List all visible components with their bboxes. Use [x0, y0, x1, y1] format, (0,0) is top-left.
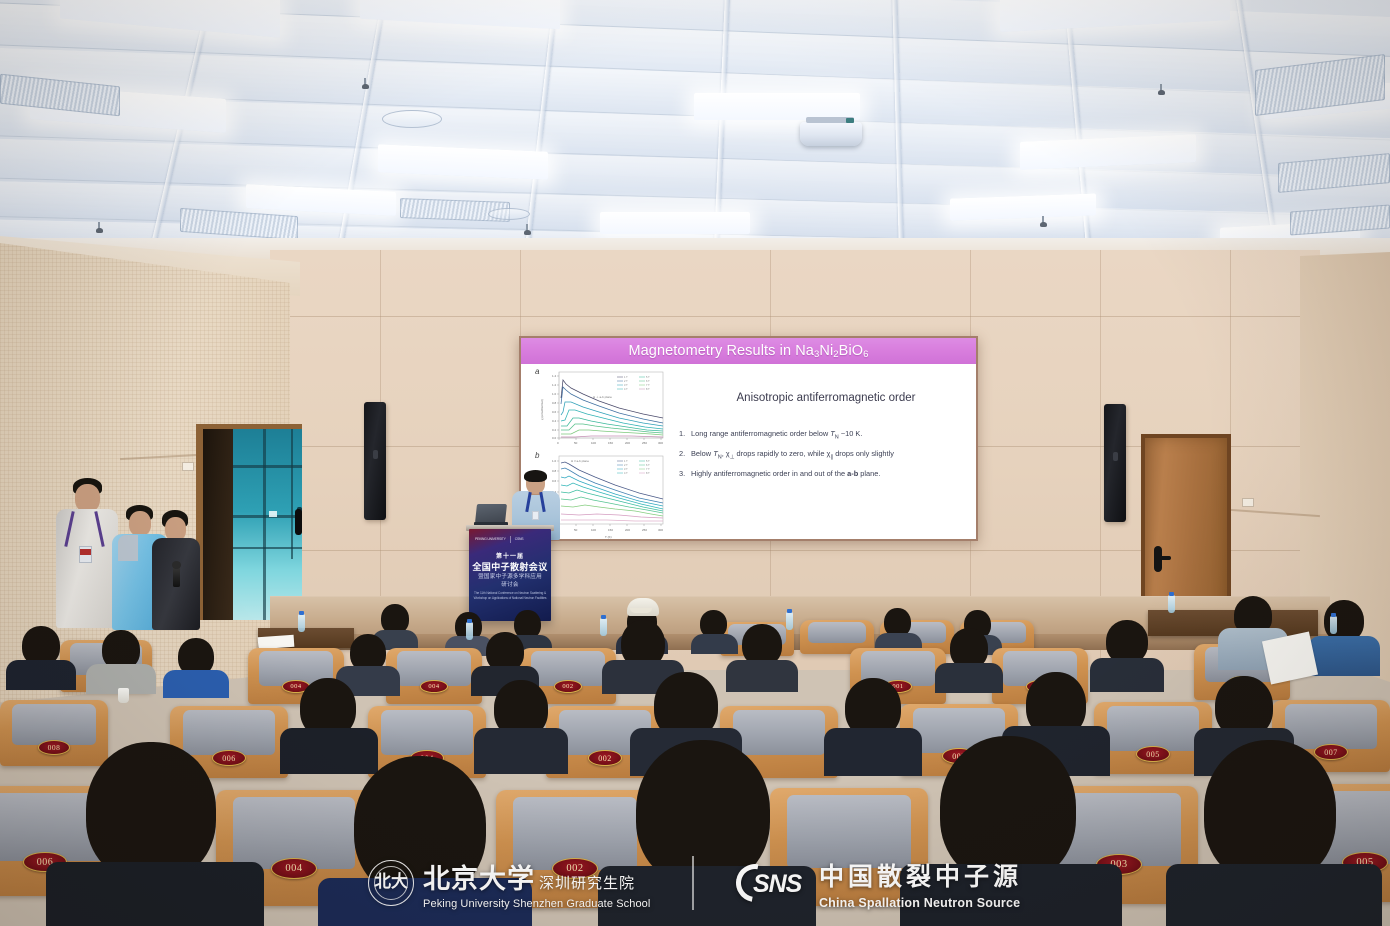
slide-body: a — [521, 364, 976, 539]
attendee-foreground — [338, 756, 510, 926]
seat-plaque: 002 — [552, 858, 598, 879]
seat-plaque: 004 — [420, 680, 448, 693]
svg-text:4 T: 4 T — [624, 471, 628, 475]
shoulders — [1166, 864, 1382, 926]
sprinkler-head — [362, 78, 369, 90]
attendee-foreground — [922, 736, 1098, 926]
water-bottle — [466, 622, 473, 640]
svg-text:2 T: 2 T — [624, 379, 628, 383]
panel-a-svg: 1.41.21.0 0.80.60.4 0.20.0 050100 150200… — [535, 368, 667, 452]
svg-text:200: 200 — [625, 441, 630, 445]
shoulders — [163, 670, 229, 698]
svg-text:5 T: 5 T — [646, 459, 650, 463]
seat-plaque: 002 — [588, 750, 622, 766]
attendee — [836, 678, 910, 776]
ceiling-light — [600, 212, 750, 234]
seat[interactable]: 004 — [386, 648, 482, 704]
podium-logos: PEKING UNIVERSITY CSNS — [475, 535, 545, 543]
svg-text:200: 200 — [625, 528, 630, 532]
wall-speaker-left — [364, 402, 386, 520]
svg-text:1.0: 1.0 — [552, 392, 557, 396]
head — [636, 740, 770, 886]
svg-text:0.6: 0.6 — [552, 410, 557, 414]
head — [940, 736, 1076, 884]
podium-line-1: 第十一届 — [469, 551, 551, 560]
shoulders — [1308, 636, 1380, 676]
podium-logo-pku: PEKING UNIVERSITY — [475, 537, 506, 541]
svg-text:4 T: 4 T — [624, 387, 628, 391]
podium-line-en: The 11th National Conference on Neutron … — [469, 591, 551, 600]
water-bottle — [298, 614, 305, 632]
presenter-badge — [532, 511, 539, 520]
shoulders — [900, 864, 1122, 926]
corridor-beyond-door — [229, 429, 302, 620]
door-leaf[interactable] — [203, 429, 233, 620]
shoulders — [598, 866, 816, 926]
attendee — [96, 630, 146, 692]
svg-text:0.0: 0.0 — [552, 436, 557, 440]
presenter-hair — [524, 470, 547, 482]
laptop-lid — [475, 504, 507, 523]
paper-cup — [118, 688, 129, 703]
seat-plaque: 004 — [271, 858, 317, 879]
podium-line-3: 暨国家中子源多学科应用 — [469, 572, 551, 580]
podium-banner: PEKING UNIVERSITY CSNS 第十一届 全国中子散射会议 暨国家… — [469, 529, 551, 621]
door-open-left[interactable] — [196, 424, 302, 620]
svg-text:300: 300 — [658, 441, 663, 445]
svg-text:7 T: 7 T — [646, 467, 650, 471]
ceiling-speaker-disc — [382, 110, 442, 128]
svg-text:250: 250 — [642, 441, 647, 445]
shoulders — [6, 660, 76, 690]
svg-text:3 T: 3 T — [624, 383, 628, 387]
svg-text:50: 50 — [574, 441, 578, 445]
ceiling-projector — [800, 122, 862, 146]
ceiling-speaker-disc — [488, 208, 530, 220]
seat-plaque: 008 — [38, 740, 70, 755]
panel-a-note: H ⊥ a-b plane — [593, 395, 612, 399]
bullet-number: 2. — [679, 450, 687, 461]
attendee — [880, 608, 916, 650]
svg-text:7 T: 7 T — [646, 383, 650, 387]
svg-text:0.4: 0.4 — [552, 419, 557, 423]
door-handle[interactable] — [1154, 546, 1162, 572]
shoulders — [935, 663, 1003, 693]
projection-screen-frame: Magnetometry Results in Na3Ni2BiO6 a — [519, 336, 978, 541]
svg-text:0.2: 0.2 — [552, 428, 557, 432]
svg-text:6 T: 6 T — [646, 463, 650, 467]
slide-heading: Anisotropic antiferromagnetic order — [681, 392, 971, 404]
water-bottle — [600, 618, 607, 636]
shoulders — [726, 660, 798, 692]
svg-text:50: 50 — [574, 528, 578, 532]
bullet-text: Below TN, χ⊥ drops rapidly to zero, whil… — [691, 450, 894, 461]
wall-outlet-plate — [1242, 498, 1254, 507]
svg-text:1.4: 1.4 — [552, 374, 557, 378]
projection-screen: Magnetometry Results in Na3Ni2BiO6 a — [521, 338, 976, 539]
svg-text:100: 100 — [591, 528, 596, 532]
head — [129, 511, 151, 536]
sprinkler-head — [1158, 84, 1165, 96]
svg-text:0.8: 0.8 — [552, 401, 557, 405]
slide-title-bar: Magnetometry Results in Na3Ni2BiO6 — [521, 338, 976, 364]
svg-text:250: 250 — [642, 528, 647, 532]
baseball-cap — [627, 598, 659, 616]
podium-logo-separator — [510, 536, 511, 543]
head — [1204, 740, 1336, 884]
panel-b-note: H // a-b plane — [571, 459, 589, 463]
conference-hall-photo: Magnetometry Results in Na3Ni2BiO6 a — [0, 0, 1390, 926]
water-bottle — [1168, 595, 1175, 613]
slide-bullet-list: 1. Long range antiferromagnetic order be… — [679, 430, 975, 487]
svg-text:8 T: 8 T — [646, 471, 650, 475]
svg-text:8 T: 8 T — [646, 387, 650, 391]
wall-outlet-plate — [182, 462, 194, 471]
svg-text:100: 100 — [591, 441, 596, 445]
ceiling-light — [694, 93, 860, 120]
svg-text:150: 150 — [608, 528, 613, 532]
head — [354, 756, 486, 898]
svg-text:6 T: 6 T — [646, 379, 650, 383]
shoulders — [824, 728, 922, 776]
shoulders — [46, 862, 264, 926]
podium-line-4: 研讨会 — [469, 580, 551, 588]
standing-attendee-1 — [56, 478, 118, 628]
panel-b-xlabel: T (K) — [605, 535, 612, 539]
water-bottle — [1330, 616, 1337, 634]
attendee-foreground — [620, 740, 792, 926]
svg-text:3 T: 3 T — [624, 467, 628, 471]
svg-text:150: 150 — [608, 441, 613, 445]
slide-chart-panel-a: a — [535, 368, 667, 452]
sprinkler-head — [524, 224, 531, 236]
svg-text:1.2: 1.2 — [552, 383, 557, 387]
svg-text:1 T: 1 T — [624, 459, 628, 463]
attendee-foreground — [1188, 740, 1358, 926]
svg-text:2 T: 2 T — [624, 463, 628, 467]
attendee — [1316, 600, 1372, 676]
handheld-microphone[interactable] — [173, 565, 180, 587]
head — [86, 742, 216, 882]
wall-speaker-right — [1104, 404, 1126, 522]
shoulders — [318, 878, 532, 926]
bullet-text: Highly antiferromagnetic order in and ou… — [691, 470, 880, 478]
slide-bullet-3: 3. Highly antiferromagnetic order in and… — [679, 470, 975, 478]
svg-text:1 T: 1 T — [624, 375, 628, 379]
sprinkler-head — [1040, 216, 1047, 228]
shoulders — [1090, 658, 1164, 692]
bullet-text: Long range antiferromagnetic order below… — [691, 430, 862, 441]
seat-plaque: 005 — [1136, 746, 1170, 762]
attendee — [736, 624, 788, 690]
body — [56, 509, 118, 628]
slide-bullet-2: 2. Below TN, χ⊥ drops rapidly to zero, w… — [679, 450, 975, 461]
bullet-number: 1. — [679, 430, 687, 441]
svg-text:300: 300 — [658, 528, 663, 532]
attendee — [944, 628, 994, 692]
attendee — [1100, 620, 1154, 690]
slide-bullet-1: 1. Long range antiferromagnetic order be… — [679, 430, 975, 441]
attendee-foreground — [70, 742, 240, 926]
slide-title: Magnetometry Results in Na3Ni2BiO6 — [628, 343, 868, 360]
svg-text:0: 0 — [557, 441, 559, 445]
seat-plaque: 002 — [554, 680, 582, 693]
shoulders — [691, 634, 738, 654]
podium-logo-csns: CSNS — [515, 537, 524, 541]
svg-text:1.0: 1.0 — [552, 459, 557, 463]
sprinkler-head — [96, 222, 103, 234]
attendee — [172, 638, 220, 696]
svg-text:5 T: 5 T — [646, 375, 650, 379]
bullet-number: 3. — [679, 470, 687, 478]
panel-a-ylabel: χ (emu/Oe/mol) — [540, 399, 544, 420]
attendee — [696, 610, 732, 652]
head — [75, 484, 100, 512]
attendee — [16, 626, 66, 688]
